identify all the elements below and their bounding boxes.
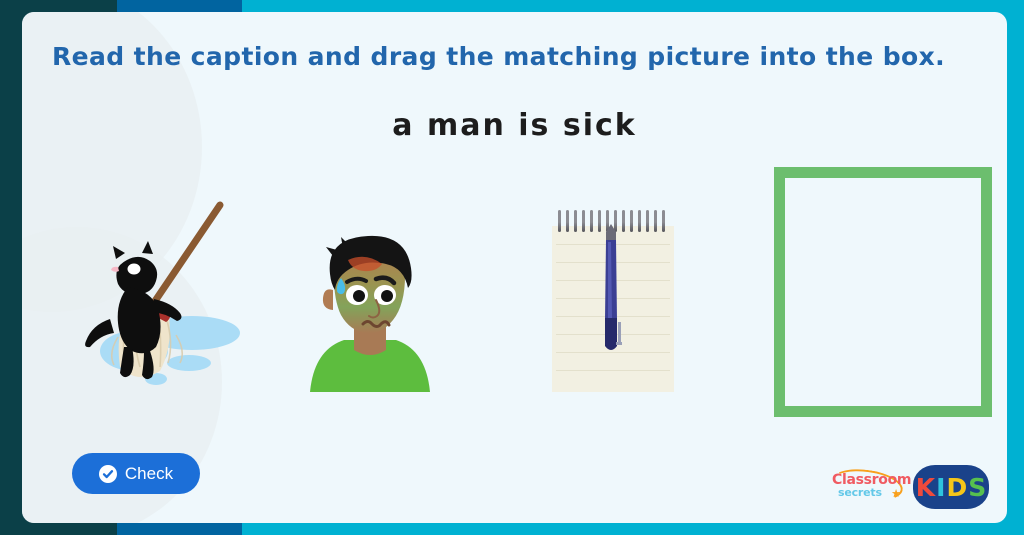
kids-letter-k: K	[916, 473, 935, 502]
star-icon: ★	[891, 487, 901, 500]
draggable-picture-notepad-pen[interactable]	[552, 210, 674, 392]
pen-icon	[552, 210, 674, 392]
kids-letter-s: S	[968, 473, 986, 502]
kids-letter-d: D	[946, 473, 967, 502]
classroom-secrets-line2: secrets	[838, 486, 882, 499]
activity-screen: Read the caption and drag the matching p…	[0, 0, 1024, 535]
sick-man-icon	[300, 222, 440, 392]
caption-text: a man is sick	[22, 108, 1007, 143]
kids-logo: K I D S	[913, 465, 989, 509]
check-button-label: Check	[125, 464, 173, 484]
footer-logos: Classroom secrets ★ K I D S	[831, 465, 989, 509]
answer-drop-box[interactable]	[774, 167, 992, 417]
cat-on-mop-icon	[72, 187, 252, 397]
draggable-picture-cat-on-mop[interactable]	[72, 187, 252, 397]
instruction-text: Read the caption and drag the matching p…	[52, 42, 945, 71]
check-button[interactable]: Check	[72, 453, 200, 494]
activity-card: Read the caption and drag the matching p…	[22, 12, 1007, 523]
draggable-picture-sick-man[interactable]	[300, 222, 440, 392]
classroom-secrets-logo: Classroom secrets ★	[831, 470, 903, 504]
kids-letter-i: I	[936, 473, 945, 502]
check-circle-icon	[99, 465, 117, 483]
